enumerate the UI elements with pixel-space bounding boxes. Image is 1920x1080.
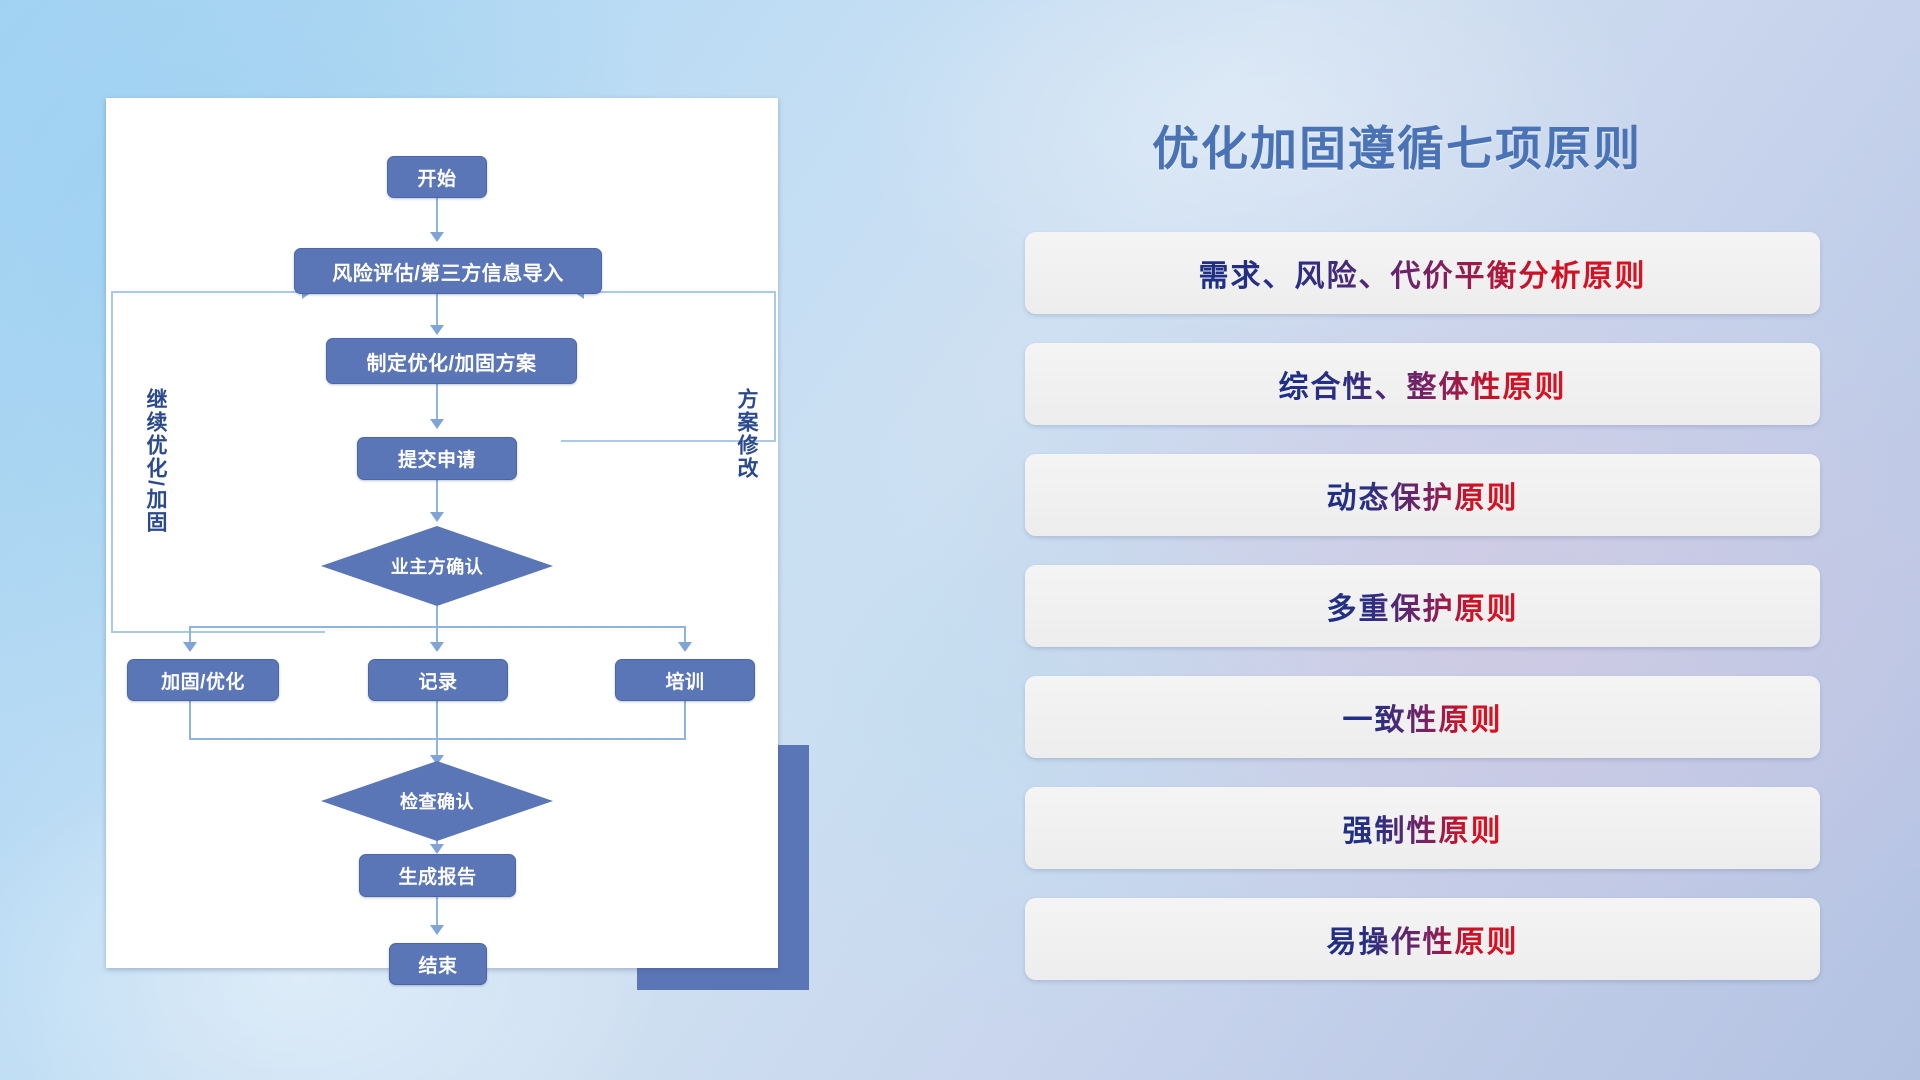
flow-node-owner-confirm-label: 业主方确认 [391, 553, 484, 579]
principle-card-7-label: 易操作性原则 [1327, 917, 1519, 961]
flow-node-plan-label: 制定优化/加固方案 [366, 347, 536, 376]
flow-node-risk-assessment-label: 风险评估/第三方信息导入 [332, 257, 564, 286]
connector-training-down [684, 699, 686, 740]
flow-node-risk-assessment[interactable]: 风险评估/第三方信息导入 [294, 248, 602, 294]
flow-node-reinforce-label: 加固/优化 [161, 667, 245, 694]
arrow-to-training [678, 642, 692, 652]
principle-card-1[interactable]: 需求、风险、代价平衡分析原则 [1025, 232, 1820, 314]
connector-reinforce-down [189, 699, 191, 740]
flowchart-panel: 继续优化/加固 方案修改 开始 风险评估/第三方信息导入 制定优化/加固方案 提… [106, 98, 778, 968]
flow-node-report-label: 生成报告 [398, 862, 476, 889]
flow-node-training[interactable]: 培训 [615, 659, 755, 701]
principle-card-6[interactable]: 强制性原则 [1025, 787, 1820, 869]
principle-card-5-label: 一致性原则 [1343, 695, 1503, 739]
flow-node-check-confirm[interactable]: 检查确认 [321, 761, 553, 841]
arrow-to-reinforce [183, 642, 197, 652]
principle-card-6-label: 强制性原则 [1343, 806, 1503, 850]
principle-card-1-label: 需求、风险、代价平衡分析原则 [1199, 251, 1647, 295]
loop-left-label: 继续优化/加固 [140, 388, 170, 534]
flow-node-end[interactable]: 结束 [389, 943, 487, 985]
connector-owner-down-stub [436, 606, 438, 628]
arrow-submit-to-owner [430, 512, 444, 522]
principle-card-4[interactable]: 多重保护原则 [1025, 565, 1820, 647]
arrow-risk-to-plan [430, 325, 444, 335]
arrow-start-to-risk [430, 232, 444, 242]
flow-node-record[interactable]: 记录 [368, 659, 508, 701]
principle-card-3-label: 动态保护原则 [1327, 473, 1519, 517]
principle-card-2-label: 综合性、整体性原则 [1279, 362, 1567, 406]
flow-node-training-label: 培训 [665, 667, 704, 694]
flow-node-check-confirm-label: 检查确认 [400, 788, 474, 814]
loop-left-vertical-line [111, 291, 113, 633]
principle-card-5[interactable]: 一致性原则 [1025, 676, 1820, 758]
principle-card-3[interactable]: 动态保护原则 [1025, 454, 1820, 536]
arrow-report-to-end [430, 925, 444, 935]
flow-node-reinforce[interactable]: 加固/优化 [127, 659, 279, 701]
arrow-plan-to-submit [430, 419, 444, 429]
principle-card-7[interactable]: 易操作性原则 [1025, 898, 1820, 980]
principle-card-4-label: 多重保护原则 [1327, 584, 1519, 628]
flow-node-plan[interactable]: 制定优化/加固方案 [326, 338, 577, 384]
arrow-check-to-report [430, 844, 444, 854]
loop-left-top-line [111, 291, 304, 293]
loop-right-vertical-line [774, 291, 776, 442]
flow-node-end-label: 结束 [418, 951, 457, 978]
connector-fanin-to-check [436, 699, 438, 761]
loop-left-bottom-line [111, 631, 325, 633]
principles-list: 需求、风险、代价平衡分析原则 综合性、整体性原则 动态保护原则 多重保护原则 一… [1025, 232, 1820, 1009]
flow-node-report[interactable]: 生成报告 [359, 854, 516, 897]
page-title: 优化加固遵循七项原则 [1152, 110, 1642, 179]
flow-node-start[interactable]: 开始 [387, 156, 487, 198]
flow-node-owner-confirm[interactable]: 业主方确认 [321, 526, 553, 606]
arrow-to-record [430, 642, 444, 652]
flow-node-submit-label: 提交申请 [398, 445, 476, 472]
flow-node-submit[interactable]: 提交申请 [357, 437, 517, 480]
flow-node-start-label: 开始 [417, 164, 456, 191]
loop-right-top-line [584, 291, 776, 293]
principle-card-2[interactable]: 综合性、整体性原则 [1025, 343, 1820, 425]
flow-node-record-label: 记录 [418, 667, 457, 694]
loop-right-label: 方案修改 [731, 388, 761, 480]
